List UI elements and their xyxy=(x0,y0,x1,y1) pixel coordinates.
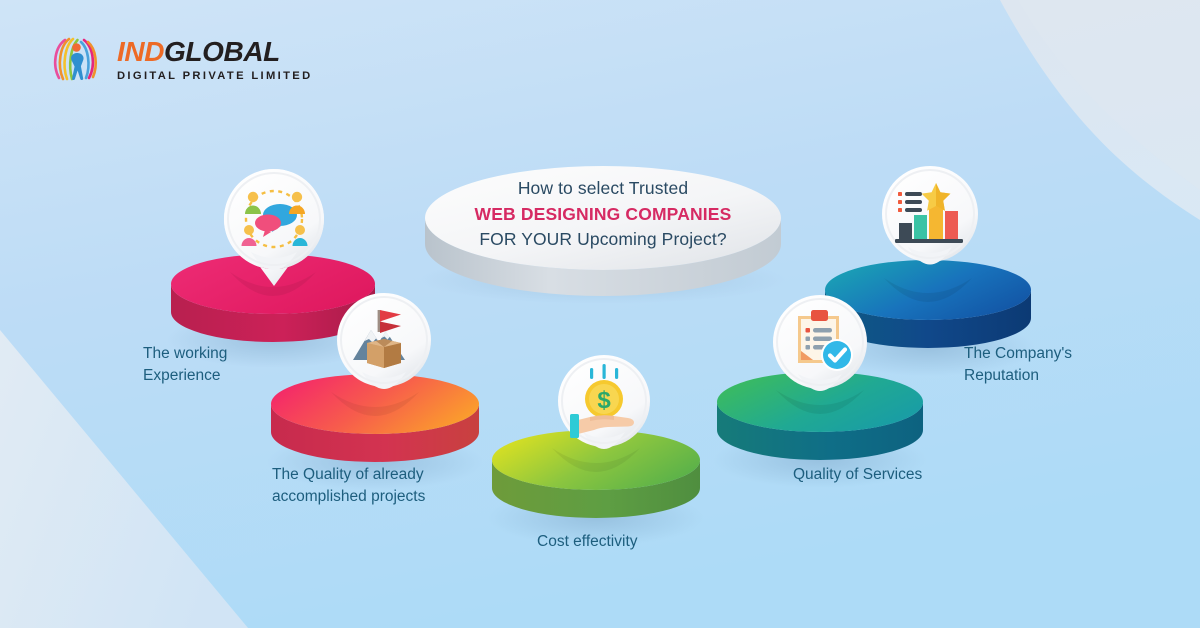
pin-working-experience[interactable] xyxy=(218,166,330,290)
label-working-experience: The working Experience xyxy=(143,343,313,388)
center-podium: How to select Trusted WEB DESIGNING COMP… xyxy=(421,140,785,305)
logo-word-ind: IND xyxy=(117,36,164,67)
pin-company-reputation[interactable] xyxy=(876,164,984,284)
label-quality-accomplished-projects: The Quality of already accomplished proj… xyxy=(272,464,492,509)
svg-text:$: $ xyxy=(597,387,611,414)
pin-quality-of-services[interactable] xyxy=(767,292,873,410)
label-company-reputation: The Company's Reputation xyxy=(964,343,1164,388)
indglobal-arc-person-logo-icon xyxy=(48,33,106,85)
logo-word-global: GLOBAL xyxy=(164,36,280,67)
pin-cost-effectivity[interactable]: $ xyxy=(552,352,656,468)
pin-quality-accomplished-projects[interactable] xyxy=(331,290,437,408)
logo-wordmark: INDGLOBAL xyxy=(117,38,313,66)
center-podium-cylinder xyxy=(421,140,785,305)
logo-tagline: DIGITAL PRIVATE LIMITED xyxy=(117,71,313,82)
label-cost-effectivity: Cost effectivity xyxy=(537,531,757,553)
brand-logo[interactable]: INDGLOBAL DIGITAL PRIVATE LIMITED xyxy=(48,33,313,85)
label-quality-of-services: Quality of Services xyxy=(793,464,1013,486)
